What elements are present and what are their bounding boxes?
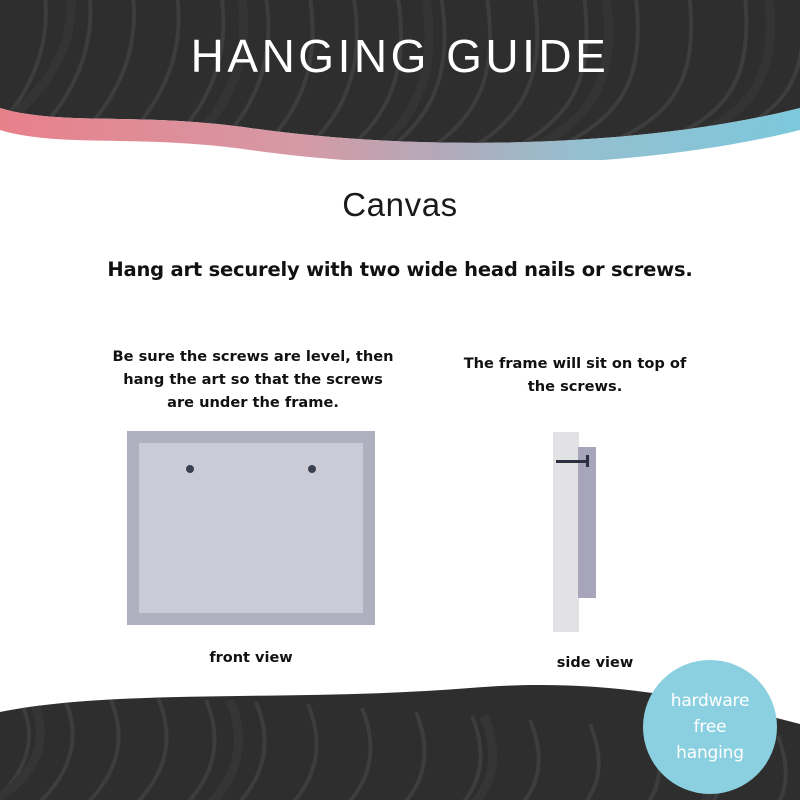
page-title: HANGING GUIDE [0, 28, 800, 84]
section-title: Canvas [0, 186, 800, 224]
header-banner: HANGING GUIDE [0, 0, 800, 160]
front-view-label: front view [151, 650, 351, 666]
screw-dot-left-icon [186, 465, 194, 473]
badge-line-2: free [671, 714, 749, 740]
front-view-caption: Be sure the screws are level, then hang … [108, 345, 398, 414]
badge-text: hardware free hanging [671, 688, 749, 766]
side-view-screw-shaft-icon [556, 460, 588, 463]
side-view-screw-head-icon [586, 455, 589, 467]
front-view-frame [127, 431, 375, 625]
screw-dot-right-icon [308, 465, 316, 473]
badge-line-3: hanging [671, 740, 749, 766]
badge-line-1: hardware [671, 688, 749, 714]
hardware-free-hanging-badge: hardware free hanging [643, 660, 777, 794]
side-view-caption: The frame will sit on top of the screws. [455, 352, 695, 398]
front-view-frame-inner [139, 443, 363, 613]
side-view-label: side view [495, 655, 695, 671]
hanging-guide-page: HANGING GUIDE Canvas Hang art securely w… [0, 0, 800, 800]
section-subtitle: Hang art securely with two wide head nai… [0, 258, 800, 281]
side-view-frame [578, 447, 596, 598]
